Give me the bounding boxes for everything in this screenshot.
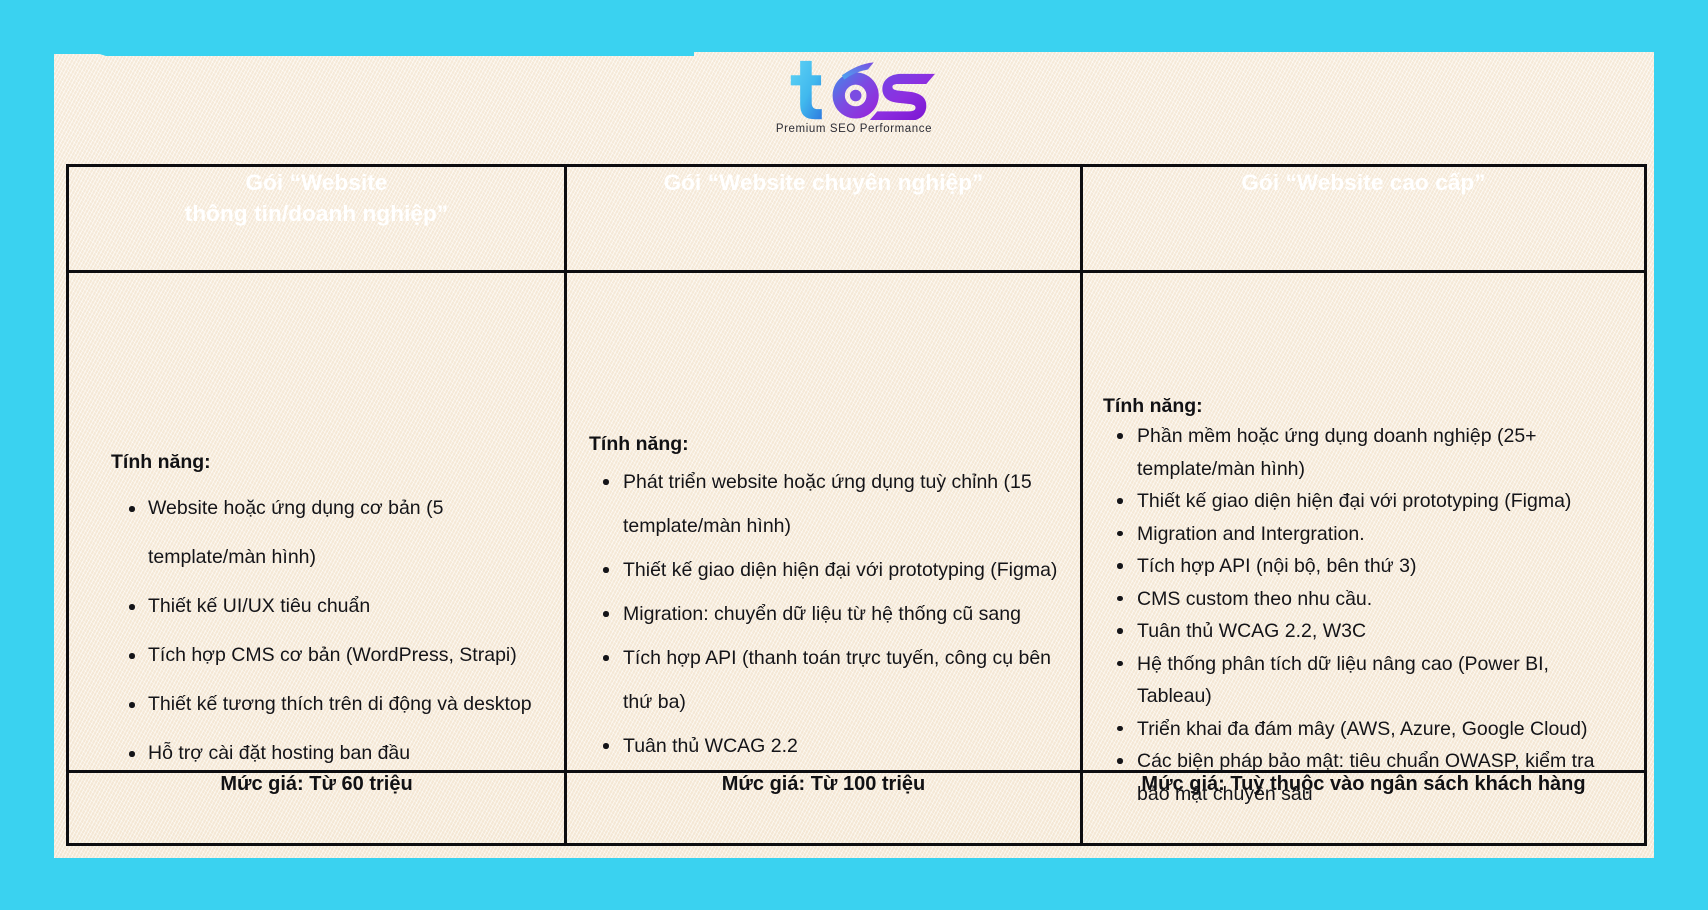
header-line: Gói “Website cao cấp” [1101, 167, 1626, 198]
pricing-comparison-table: Gói “Website thông tin/doanh nghiệp” Gói… [66, 164, 1647, 846]
package-header-professional: Gói “Website chuyên nghiệp” [566, 166, 1082, 272]
list-item: Migration and Intergration. [1103, 518, 1624, 551]
features-label: Tính năng: [589, 433, 1058, 456]
list-item: Tuân thủ WCAG 2.2 [587, 724, 1058, 768]
feature-list-professional: Phát triển website hoặc ứng dụng tuỳ chỉ… [587, 460, 1058, 768]
list-item: Triển khai đa đám mây (AWS, Azure, Googl… [1103, 713, 1624, 746]
list-item: Website hoặc ứng dụng cơ bản (5 template… [93, 484, 538, 582]
features-label: Tính năng: [1103, 395, 1624, 418]
list-item: Hỗ trợ cài đặt hosting ban đầu [93, 729, 538, 778]
features-cell-premium: Tính năng: Phần mềm hoặc ứng dụng doanh … [1082, 272, 1646, 772]
header-line: thông tin/doanh nghiệp” [87, 198, 546, 229]
features-cell-basic: Tính năng: Website hoặc ứng dụng cơ bản … [68, 272, 566, 772]
table-features-row: Tính năng: Website hoặc ứng dụng cơ bản … [68, 272, 1646, 772]
feature-list-basic: Website hoặc ứng dụng cơ bản (5 template… [93, 484, 538, 778]
list-item: Tuân thủ WCAG 2.2, W3C [1103, 615, 1624, 648]
package-header-premium: Gói “Website cao cấp” [1082, 166, 1646, 272]
list-item: Migration: chuyển dữ liệu từ hệ thống cũ… [587, 592, 1058, 636]
card-notch-diagonal [54, 40, 694, 56]
list-item: Thiết kế giao diện hiện đại với prototyp… [587, 548, 1058, 592]
list-item: Phần mềm hoặc ứng dụng doanh nghiệp (25+… [1103, 420, 1624, 485]
features-label: Tính năng: [111, 451, 538, 474]
list-item: CMS custom theo nhu cầu. [1103, 583, 1624, 616]
price-cell-basic: Mức giá: Từ 60 triệu [68, 772, 566, 845]
header-line: Gói “Website [87, 167, 546, 198]
list-item: Tích hợp CMS cơ bản (WordPress, Strapi) [93, 631, 538, 680]
package-header-basic: Gói “Website thông tin/doanh nghiệp” [68, 166, 566, 272]
table-header-row: Gói “Website thông tin/doanh nghiệp” Gói… [68, 166, 1646, 272]
list-item: Tích hợp API (nội bộ, bên thứ 3) [1103, 550, 1624, 583]
list-item: Tích hợp API (thanh toán trực tuyến, côn… [587, 636, 1058, 724]
list-item: Các biện pháp bảo mật: tiêu chuẩn OWASP,… [1103, 745, 1624, 810]
list-item: Thiết kế tương thích trên di động và des… [93, 680, 538, 729]
feature-list-premium: Phần mềm hoặc ứng dụng doanh nghiệp (25+… [1103, 420, 1624, 810]
list-item: Thiết kế UI/UX tiêu chuẩn [93, 582, 538, 631]
header-line: Gói “Website chuyên nghiệp” [585, 167, 1062, 198]
price-cell-professional: Mức giá: Từ 100 triệu [566, 772, 1082, 845]
list-item: Phát triển website hoặc ứng dụng tuỳ chỉ… [587, 460, 1058, 548]
features-cell-professional: Tính năng: Phát triển website hoặc ứng d… [566, 272, 1082, 772]
list-item: Thiết kế giao diện hiện đại với prototyp… [1103, 485, 1624, 518]
list-item: Hệ thống phân tích dữ liệu nâng cao (Pow… [1103, 648, 1624, 713]
